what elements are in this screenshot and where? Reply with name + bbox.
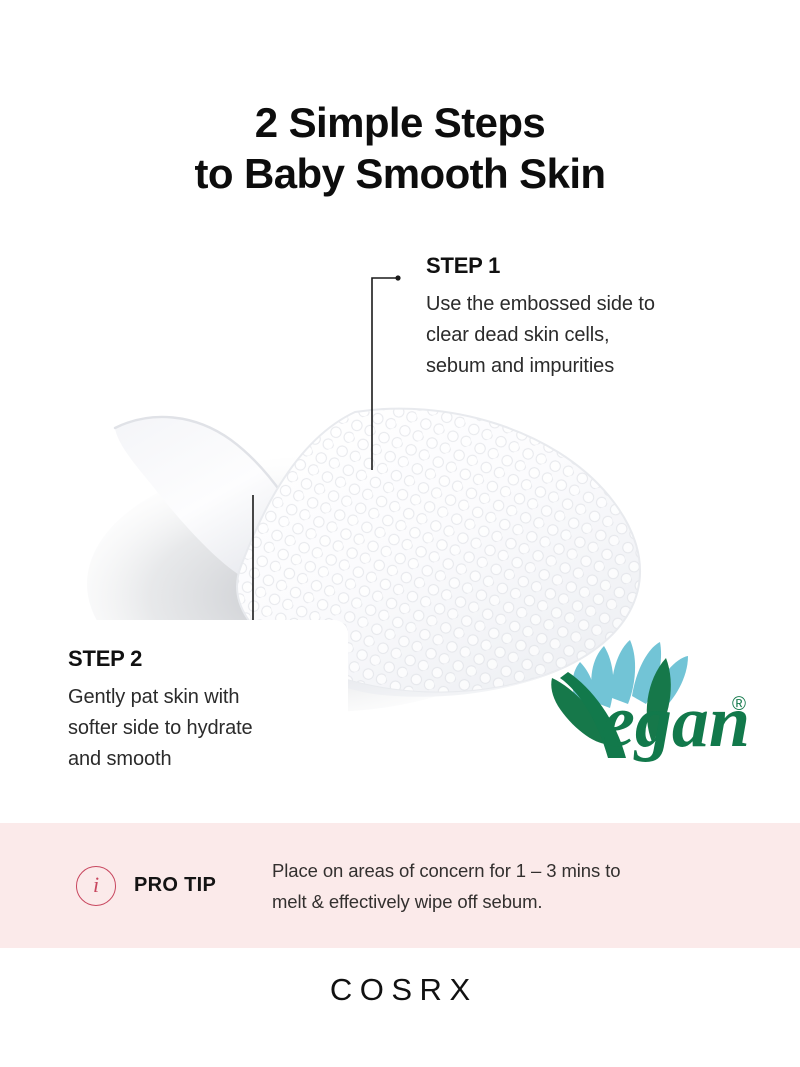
infographic-page: 2 Simple Steps to Baby Smooth Skin — [0, 0, 800, 1067]
leader-line-step-1 — [366, 270, 406, 470]
step-1-description: Use the embossed side to clear dead skin… — [426, 289, 746, 382]
step-1-block: STEP 1 Use the embossed side to clear de… — [426, 252, 746, 382]
step-1-desc-line-1: Use the embossed side to — [426, 289, 746, 320]
info-icon-glyph: i — [93, 874, 99, 896]
pro-tip-text-line-2: melt & effectively wipe off sebum. — [272, 886, 620, 917]
headline-line-1: 2 Simple Steps — [0, 97, 800, 148]
step-2-title: STEP 2 — [68, 645, 358, 673]
info-icon: i — [76, 866, 116, 906]
step-2-description: Gently pat skin with softer side to hydr… — [68, 682, 358, 775]
pro-tip-label: PRO TIP — [134, 874, 216, 897]
registered-trademark-icon: ® — [732, 694, 746, 715]
step-2-desc-line-3: and smooth — [68, 744, 358, 775]
step-2-desc-line-1: Gently pat skin with — [68, 682, 358, 713]
step-1-desc-line-2: clear dead skin cells, — [426, 320, 746, 351]
step-1-desc-line-3: sebum and impurities — [426, 351, 746, 382]
pro-tip-text: Place on areas of concern for 1 – 3 mins… — [272, 855, 620, 917]
pro-tip-band: i PRO TIP Place on areas of concern for … — [0, 823, 800, 948]
step-1-title: STEP 1 — [426, 252, 746, 280]
step-2-desc-line-2: softer side to hydrate — [68, 713, 358, 744]
vegan-badge-icon: egan ® — [536, 618, 760, 782]
pro-tip-text-line-1: Place on areas of concern for 1 – 3 mins… — [272, 855, 620, 886]
pro-tip-label-group: i PRO TIP — [76, 866, 272, 906]
page-title: 2 Simple Steps to Baby Smooth Skin — [0, 97, 800, 199]
brand-logo-cosrx: COSRX — [0, 972, 800, 1008]
vegan-wordmark: egan — [602, 681, 750, 763]
headline-line-2: to Baby Smooth Skin — [0, 148, 800, 199]
step-2-block: STEP 2 Gently pat skin with softer side … — [68, 645, 358, 775]
